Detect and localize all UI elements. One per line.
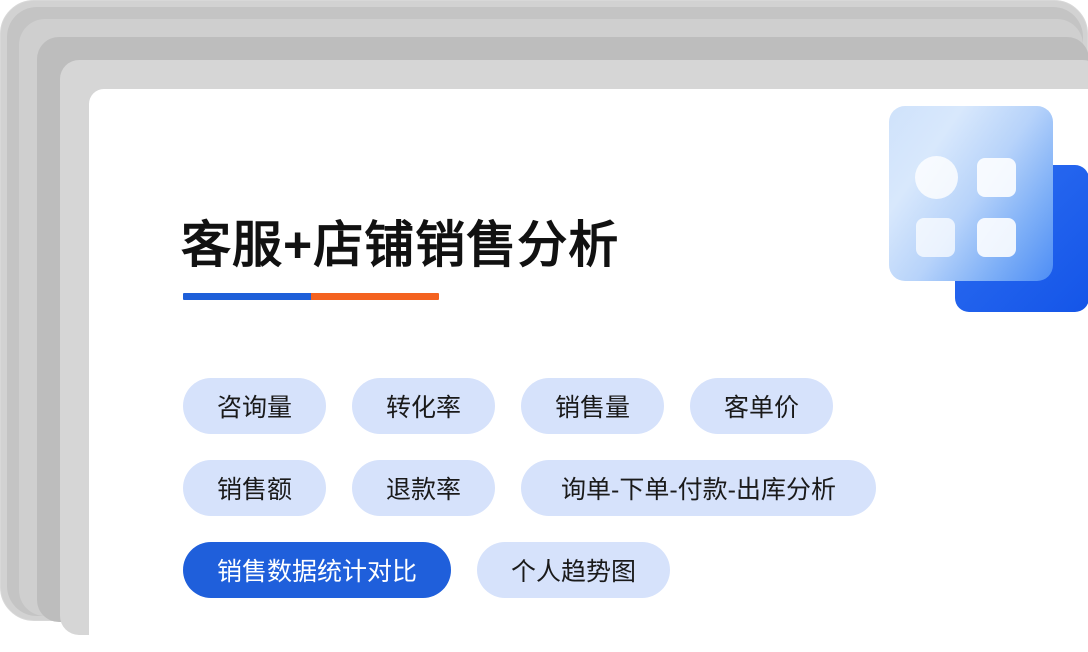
icon-square-bottom-right — [977, 218, 1016, 257]
icon-circle-shape — [915, 156, 958, 199]
tag-chip[interactable]: 销售量 — [521, 378, 664, 434]
page-title: 客服+店铺销售分析 — [181, 205, 619, 277]
tag-row: 销售额退款率询单-下单-付款-出库分析 — [183, 460, 1063, 516]
tag-chip[interactable]: 转化率 — [352, 378, 495, 434]
card-frame-layer-3: 客服+店铺销售分析 — [19, 19, 1083, 616]
app-modules-icon — [889, 106, 1088, 306]
tag-row: 咨询量转化率销售量客单价 — [183, 378, 1063, 434]
tag-chip[interactable]: 咨询量 — [183, 378, 326, 434]
icon-front-panel — [889, 106, 1053, 281]
card-frame-layer-5: 客服+店铺销售分析 — [60, 60, 1088, 635]
accent-segment-blue — [183, 293, 311, 300]
tag-chip[interactable]: 客单价 — [690, 378, 833, 434]
tag-list: 咨询量转化率销售量客单价销售额退款率询单-下单-付款-出库分析销售数据统计对比个… — [183, 378, 1063, 598]
card-frame-layer-4: 客服+店铺销售分析 — [37, 37, 1088, 622]
tag-chip[interactable]: 销售额 — [183, 460, 326, 516]
title-underline-accent — [183, 293, 439, 300]
icon-square-top-right — [977, 158, 1016, 197]
accent-segment-orange — [311, 293, 439, 300]
icon-square-bottom-left — [916, 218, 955, 257]
card-frame-outer: 客服+店铺销售分析 — [0, 0, 1088, 621]
tag-chip[interactable]: 退款率 — [352, 460, 495, 516]
tag-chip-active[interactable]: 销售数据统计对比 — [183, 542, 451, 598]
tag-row: 销售数据统计对比个人趋势图 — [183, 542, 1063, 598]
tag-chip[interactable]: 个人趋势图 — [477, 542, 670, 598]
tag-chip[interactable]: 询单-下单-付款-出库分析 — [521, 460, 876, 516]
card-frame-layer-2: 客服+店铺销售分析 — [7, 7, 1083, 616]
content-card: 客服+店铺销售分析 — [89, 89, 1088, 652]
